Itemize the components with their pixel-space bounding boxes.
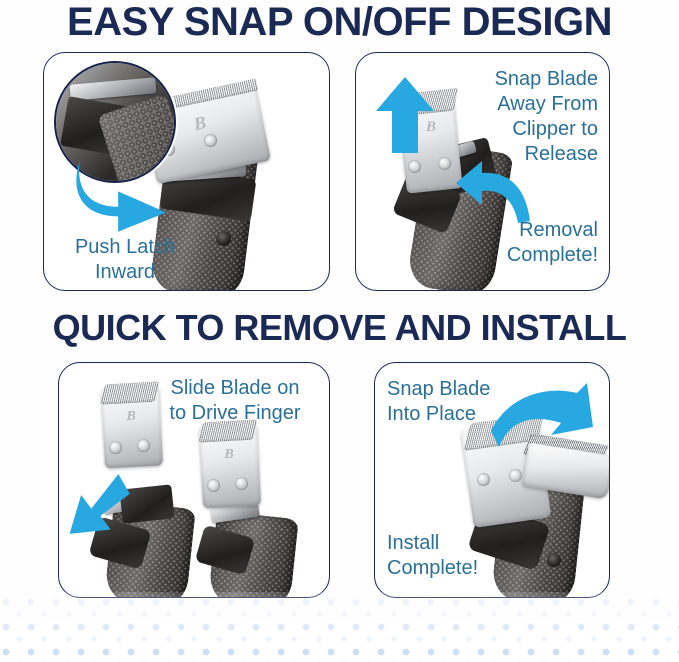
bottom-dot-decoration [0,592,679,662]
arrow-down-left-icon [58,467,131,555]
clipper-body-hole [547,553,561,567]
infographic-page: EASY SNAP ON/OFF DESIGN B [0,0,679,662]
heading-easy-snap-on-off-design: EASY SNAP ON/OFF DESIGN [0,0,679,44]
panel-snap-blade-away: B Snap Blade Away From Clipper to Releas… [355,52,610,291]
panel-slide-blade-on: B B Slide Blade on to Drive Finger [58,362,330,598]
detached-blade-screw-left [408,160,421,173]
heading-quick-to-remove-and-install: QUICK TO REMOVE AND INSTALL [0,308,679,348]
mounted-blade-logo-right: B [207,447,251,463]
floating-blade-screw-left-a [109,441,122,454]
caption-snap-blade-into-place: Snap Blade Into Place [387,377,527,427]
caption-removal-complete: Removal Complete! [456,218,598,268]
caption-slide-blade-on: Slide Blade on to Drive Finger [141,376,329,426]
caption-install-complete: Install Complete! [387,531,527,581]
panel-snap-blade-into-place: Snap Blade Into Place Install Complete! [374,362,610,598]
clipper-body-hole [216,231,231,246]
floating-blade-screw-left-b [137,439,150,452]
arrow-up-icon [374,75,436,157]
caption-snap-blade-away: Snap Blade Away From Clipper to Release [456,67,598,167]
mounted-blade-screw-right-b [235,477,248,490]
mounted-blade-screw-right-a [207,479,220,492]
caption-push-latch-inward: Push Latch Inward [50,235,200,285]
detached-blade-screw-right [438,157,451,170]
panel-push-latch-inward: B Push Latch Inward [43,52,330,291]
arrow-push-latch-icon [70,159,180,239]
